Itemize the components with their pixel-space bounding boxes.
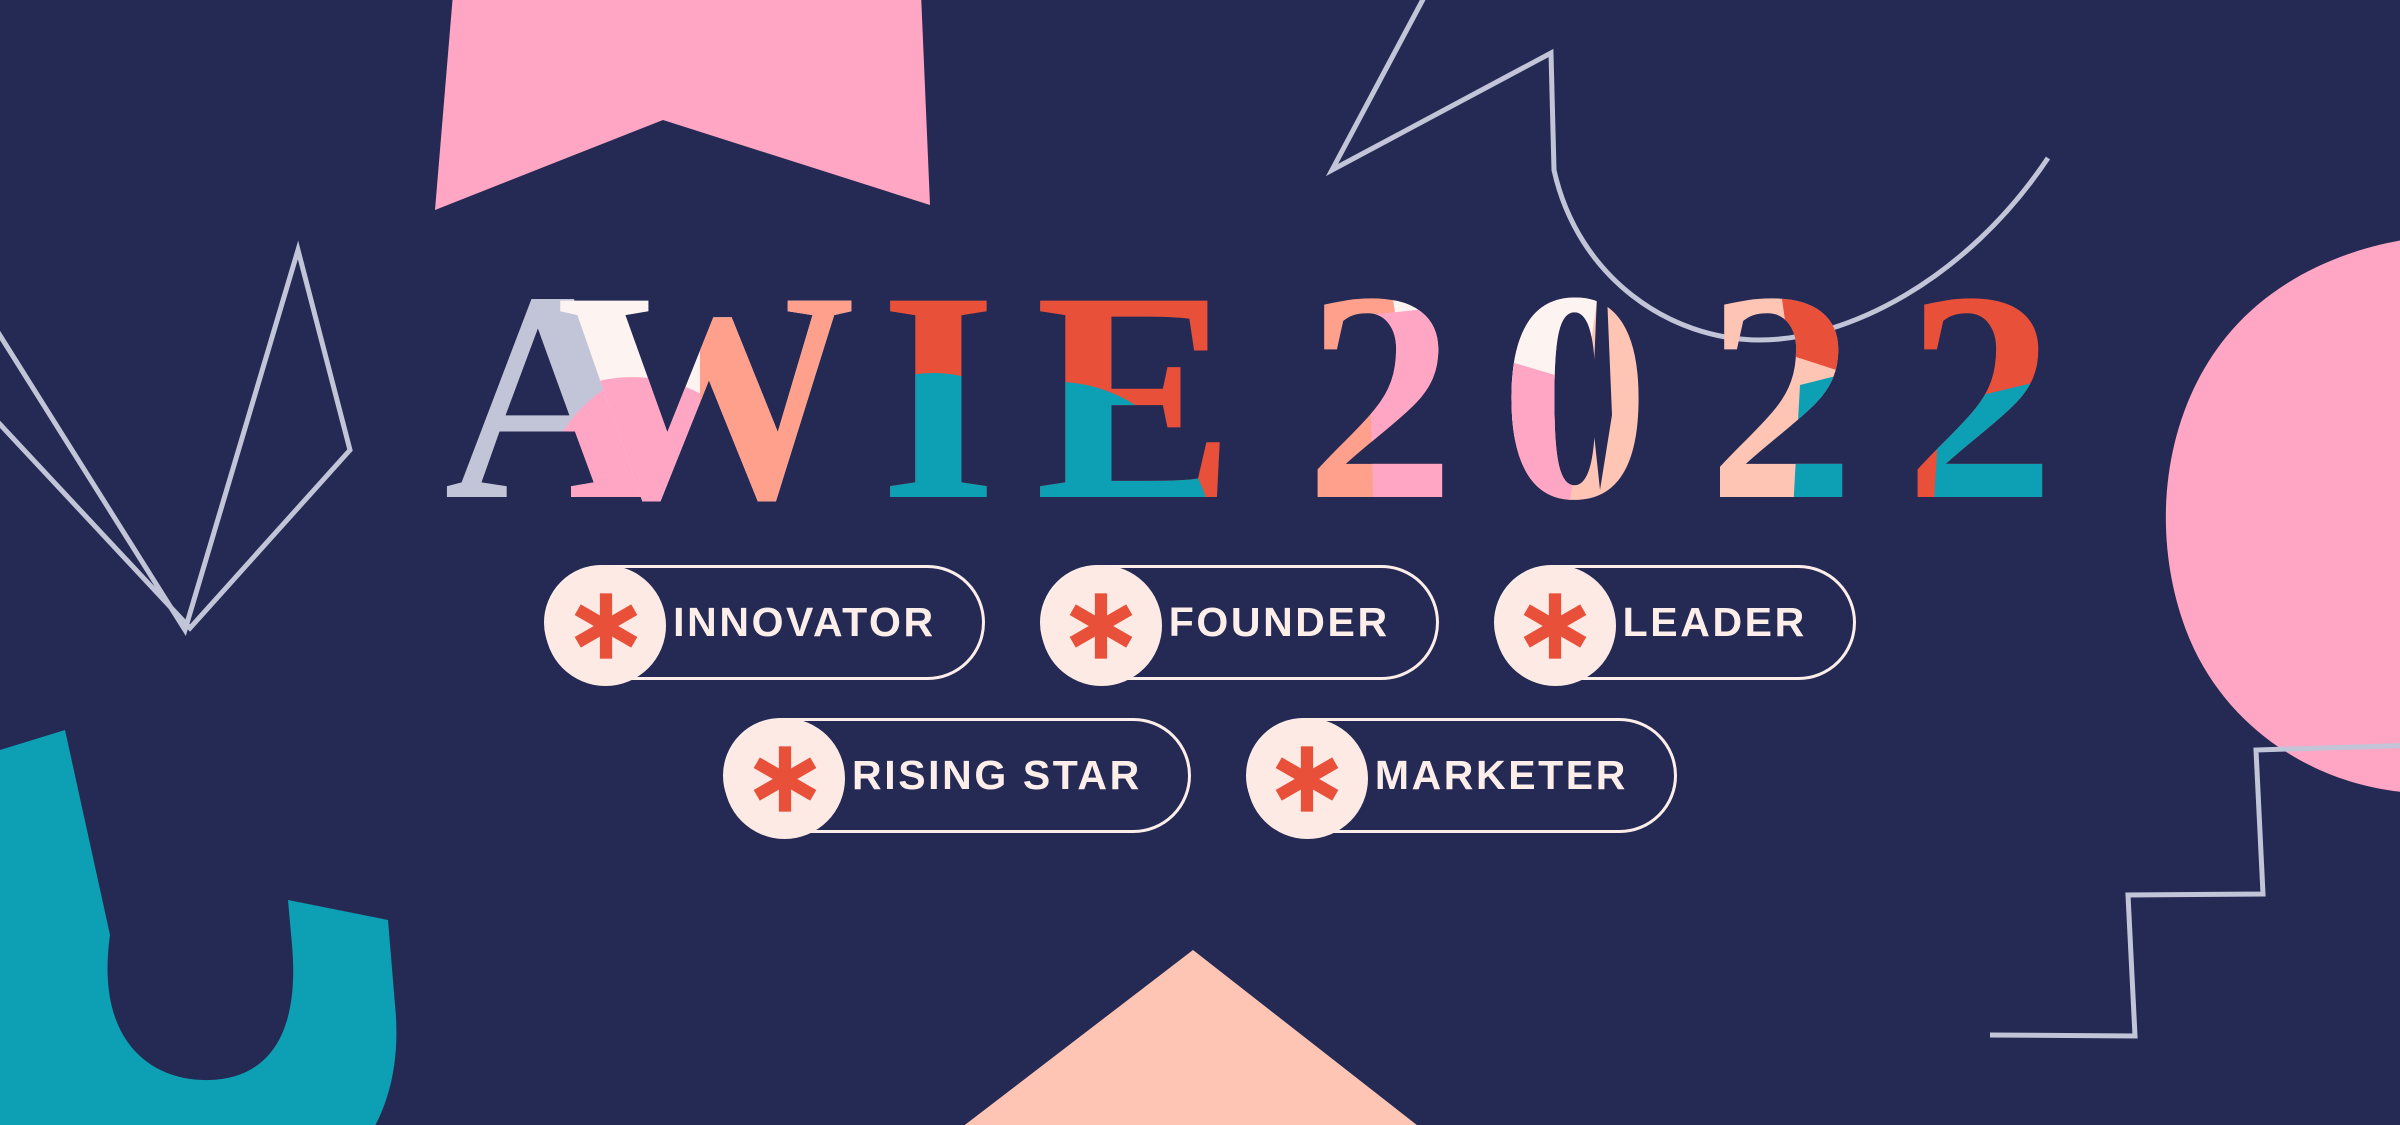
title-letter-i: I I: [880, 235, 991, 555]
title-letter-w: W W W: [556, 235, 851, 555]
category-pill-label: MARKETER: [1375, 755, 1628, 796]
category-pill-marketer[interactable]: MARKETER: [1246, 718, 1677, 833]
background-decorations: [0, 0, 2400, 1125]
page-title: A A W W W I: [0, 235, 2400, 555]
asterisk-icon: [1067, 592, 1135, 660]
category-pill-row-2: RISING STAR MARKETER: [0, 718, 2400, 833]
title-artwork: A A W W W I: [0, 235, 2400, 555]
asterisk-badge: [1247, 718, 1368, 839]
asterisk-badge: [1495, 565, 1616, 686]
category-pill-founder[interactable]: FOUNDER: [1040, 565, 1439, 680]
category-pill-label: INNOVATOR: [673, 602, 936, 643]
category-pill-groups: INNOVATOR FOUNDER: [0, 565, 2400, 833]
title-digit-2-first: 2 2 2: [1305, 235, 1451, 555]
asterisk-badge: [1041, 565, 1162, 686]
asterisk-icon: [572, 592, 640, 660]
title-digit-0: 0 0 0: [1500, 235, 1646, 555]
category-pill-label: RISING STAR: [852, 755, 1142, 796]
title-digit-2-second: 2 2 2: [1705, 235, 1851, 555]
category-pill-label: FOUNDER: [1169, 602, 1390, 643]
category-pill-leader[interactable]: LEADER: [1494, 565, 1856, 680]
asterisk-icon: [1521, 592, 1589, 660]
awie-2022-banner: A A W W W I: [0, 0, 2400, 1125]
category-pill-rising-star[interactable]: RISING STAR: [723, 718, 1191, 833]
asterisk-icon: [1273, 745, 1341, 813]
category-pill-label: LEADER: [1623, 602, 1807, 643]
category-pill-innovator[interactable]: INNOVATOR: [544, 565, 985, 680]
asterisk-icon: [751, 745, 819, 813]
asterisk-badge: [545, 565, 666, 686]
title-digit-2-third: 2 2: [1905, 235, 2051, 555]
category-pill-row-1: INNOVATOR FOUNDER: [0, 565, 2400, 680]
title-letter-e: E E: [1035, 235, 1229, 555]
asterisk-badge: [724, 718, 845, 839]
